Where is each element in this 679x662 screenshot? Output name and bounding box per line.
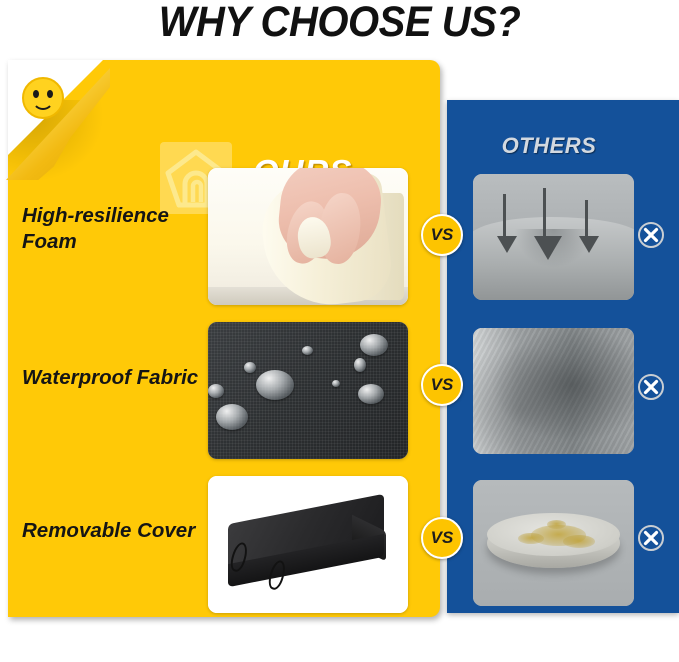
ours-image-waterproof-fabric — [208, 322, 408, 459]
comparison-poster: WHY CHOOSE US? OTHERS — [0, 0, 679, 662]
circled-x-icon-row-1 — [637, 221, 665, 249]
circled-x-icon-row-2 — [637, 373, 665, 401]
wet-stained-fabric-art — [473, 328, 634, 454]
vs-badge-row-1: VS — [421, 214, 463, 256]
others-image-waterproof-fabric — [473, 328, 634, 454]
sagging-surface-arrows-art — [473, 174, 634, 300]
others-image-removable-cover — [473, 480, 634, 606]
others-heading: OTHERS — [447, 133, 651, 159]
ours-image-high-resilience-foam — [208, 168, 408, 305]
feature-label-removable-cover: Removable Cover — [22, 518, 207, 544]
smiley-face-icon — [22, 77, 64, 119]
feature-label-high-resilience-foam: High-resilience Foam — [22, 203, 207, 255]
page-title: WHY CHOOSE US? — [24, 0, 655, 47]
stained-round-cushion-art — [473, 480, 634, 606]
vs-badge-row-2: VS — [421, 364, 463, 406]
others-image-high-resilience-foam — [473, 174, 634, 300]
ours-image-removable-cover — [208, 476, 408, 613]
black-cushion-cover-art — [208, 476, 408, 613]
water-beads-on-fabric-art — [208, 322, 408, 459]
circled-x-icon-row-3 — [637, 524, 665, 552]
hand-squeezing-foam-art — [208, 168, 408, 305]
feature-label-waterproof-fabric: Waterproof Fabric — [22, 365, 207, 391]
vs-badge-row-3: VS — [421, 517, 463, 559]
